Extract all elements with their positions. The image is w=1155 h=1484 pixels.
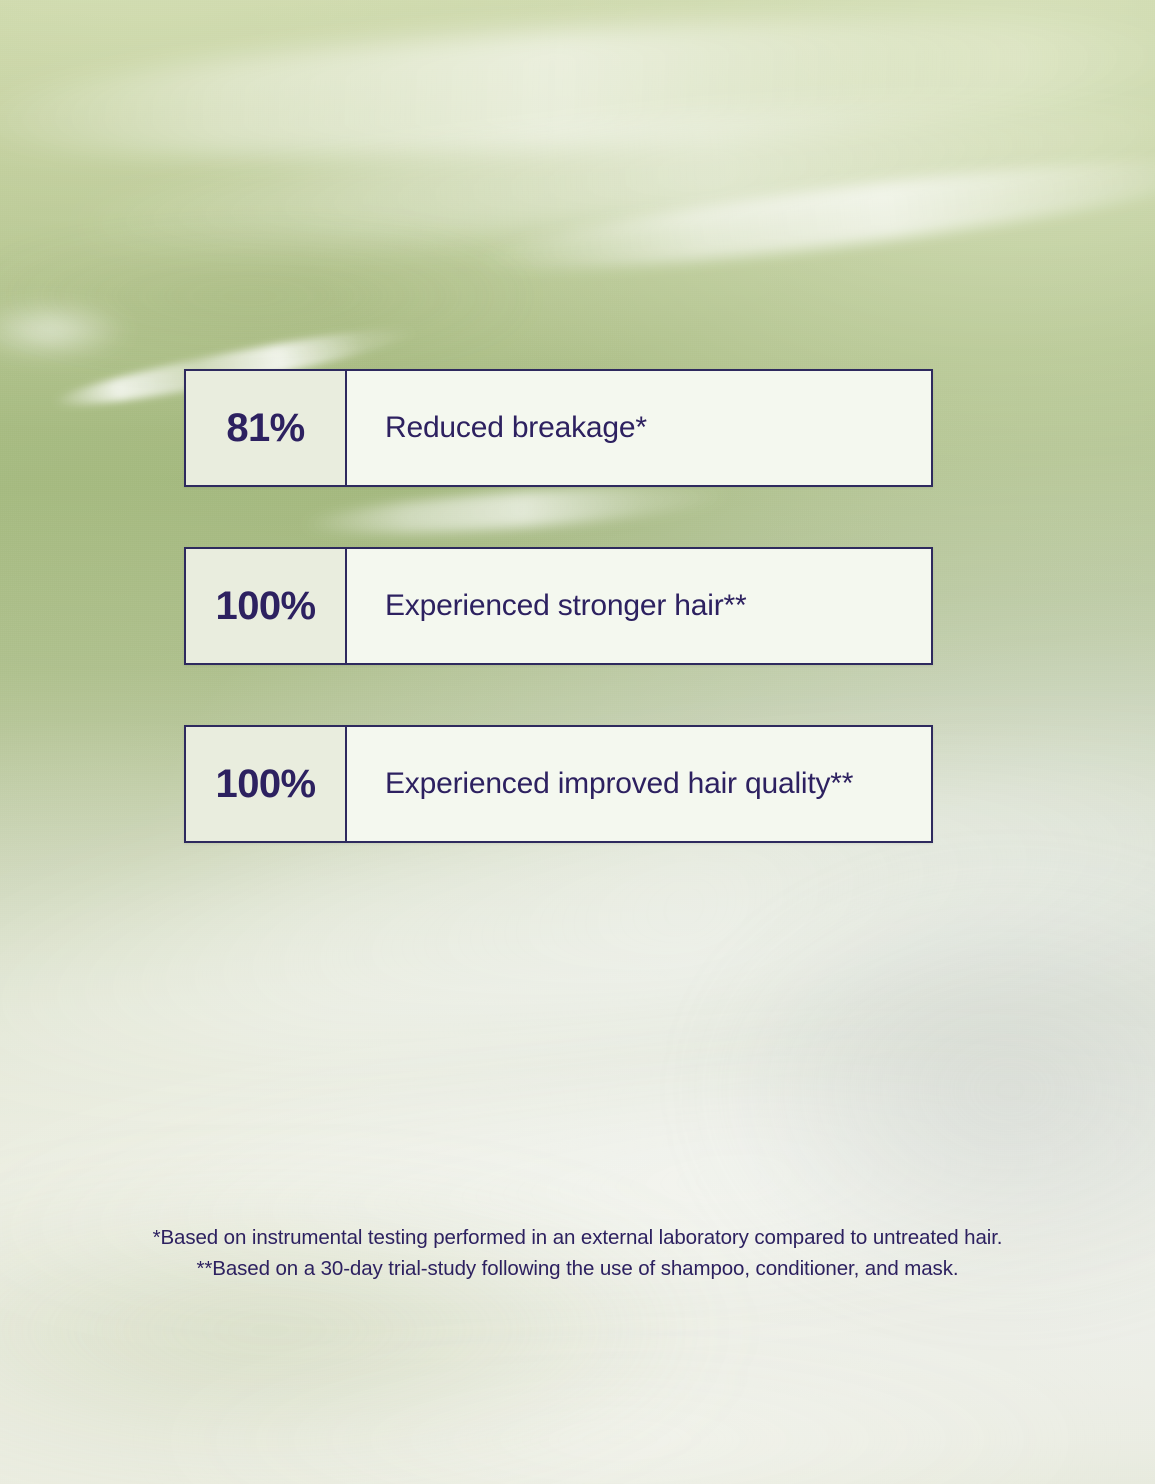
gel-highlight-streak — [0, 1039, 1155, 1332]
stat-label: Experienced improved hair quality** — [385, 767, 853, 802]
gel-highlight-streak — [120, 1340, 1120, 1484]
stat-value-cell: 81% — [186, 371, 347, 485]
gel-highlight-streak — [469, 140, 1155, 290]
gel-highlight-streak — [58, 77, 1155, 275]
stat-label-cell: Experienced improved hair quality** — [347, 727, 931, 841]
gel-highlight-streak — [0, 0, 1155, 183]
stat-value-cell: 100% — [186, 549, 347, 663]
gel-highlight-streak — [0, 300, 130, 360]
stat-value: 81% — [226, 408, 304, 448]
gel-shadow-streak — [0, 236, 560, 356]
footnote-block: *Based on instrumental testing performed… — [0, 1222, 1155, 1284]
stat-value: 100% — [216, 586, 316, 626]
stat-label: Experienced stronger hair** — [385, 589, 746, 624]
stat-label-cell: Experienced stronger hair** — [347, 549, 931, 663]
stat-callout-panel: 81% Reduced breakage* 100% Experienced s… — [0, 0, 1155, 1484]
stat-row: 100% Experienced stronger hair** — [184, 547, 933, 665]
stat-value-cell: 100% — [186, 727, 347, 841]
stat-label: Reduced breakage* — [385, 411, 647, 446]
stat-row: 81% Reduced breakage* — [184, 369, 933, 487]
stat-label-cell: Reduced breakage* — [347, 371, 931, 485]
stat-value: 100% — [216, 764, 316, 804]
stat-list: 81% Reduced breakage* 100% Experienced s… — [184, 369, 933, 843]
stat-row: 100% Experienced improved hair quality** — [184, 725, 933, 843]
footnote-line: **Based on a 30-day trial-study followin… — [0, 1253, 1155, 1284]
footnote-line: *Based on instrumental testing performed… — [0, 1222, 1155, 1253]
